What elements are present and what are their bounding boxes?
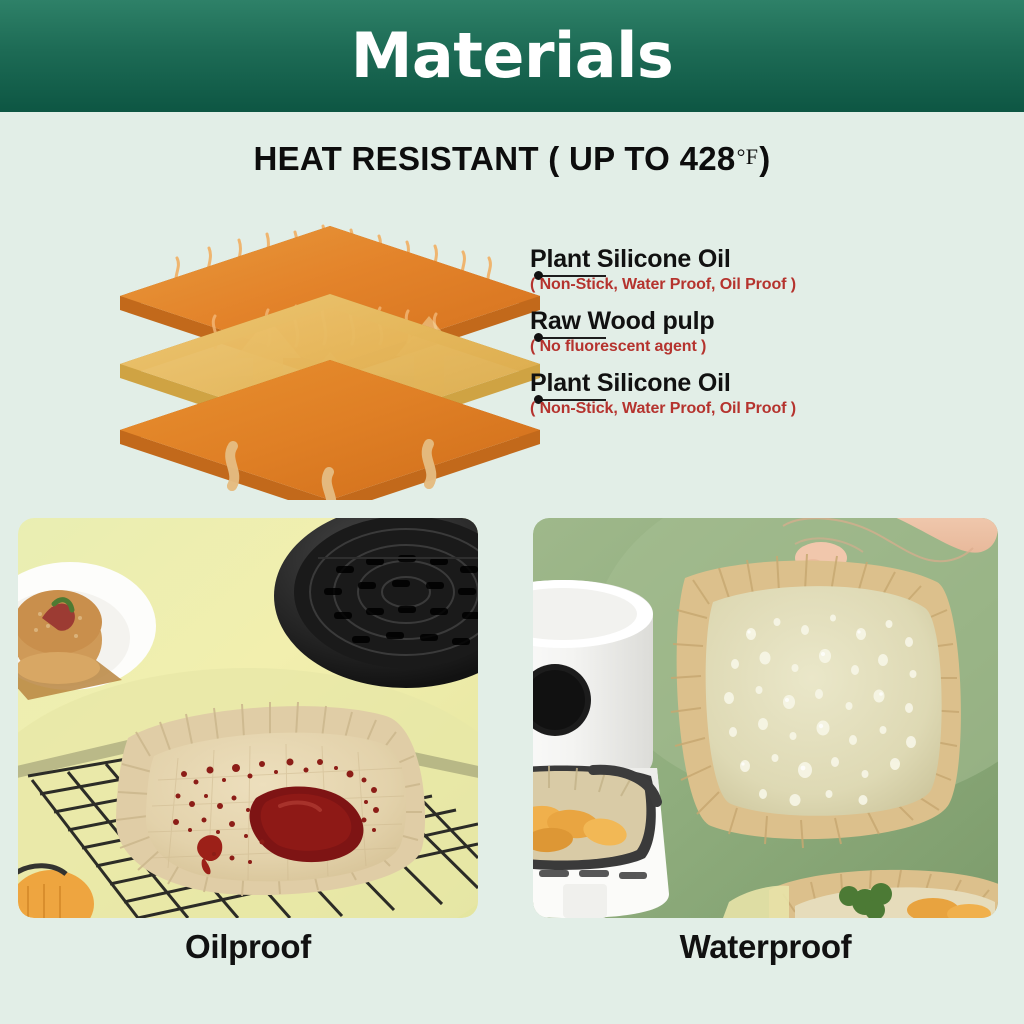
degree-fahrenheit-unit: °F xyxy=(736,144,760,169)
air-fryer xyxy=(533,580,669,918)
label-top-silicone: Plant Silicone Oil ( Non-Stick, Water Pr… xyxy=(530,246,950,294)
label-top-subtitle: ( Non-Stick, Water Proof, Oil Proof ) xyxy=(530,275,950,294)
label-top-title: Plant Silicone Oil xyxy=(530,246,950,273)
held-liner-with-water xyxy=(671,554,961,848)
label-middle-pulp: Raw Wood pulp ( No fluorescent agent ) xyxy=(530,308,950,356)
parchment-liner-with-oil xyxy=(116,702,425,896)
label-middle-subtitle: ( No fluorescent agent ) xyxy=(530,337,950,356)
label-middle-title: Raw Wood pulp xyxy=(530,308,950,335)
photo-waterproof xyxy=(533,518,998,918)
page-title: Materials xyxy=(351,25,674,87)
photo-oilproof xyxy=(18,518,478,918)
caption-oilproof: Oilproof xyxy=(18,928,478,966)
label-bottom-subtitle: ( Non-Stick, Water Proof, Oil Proof ) xyxy=(530,399,950,418)
heat-resistant-prefix: HEAT RESISTANT ( UP TO 428 xyxy=(253,140,735,177)
heat-resistant-suffix: ) xyxy=(759,140,770,177)
page-header: Materials xyxy=(0,0,1024,112)
label-bottom-title: Plant Silicone Oil xyxy=(530,370,950,397)
heat-resistant-heading: HEAT RESISTANT ( UP TO 428°F) xyxy=(0,140,1024,178)
caption-waterproof: Waterproof xyxy=(533,928,998,966)
label-bottom-silicone: Plant Silicone Oil ( Non-Stick, Water Pr… xyxy=(530,370,950,418)
layer-diagram xyxy=(100,190,560,500)
